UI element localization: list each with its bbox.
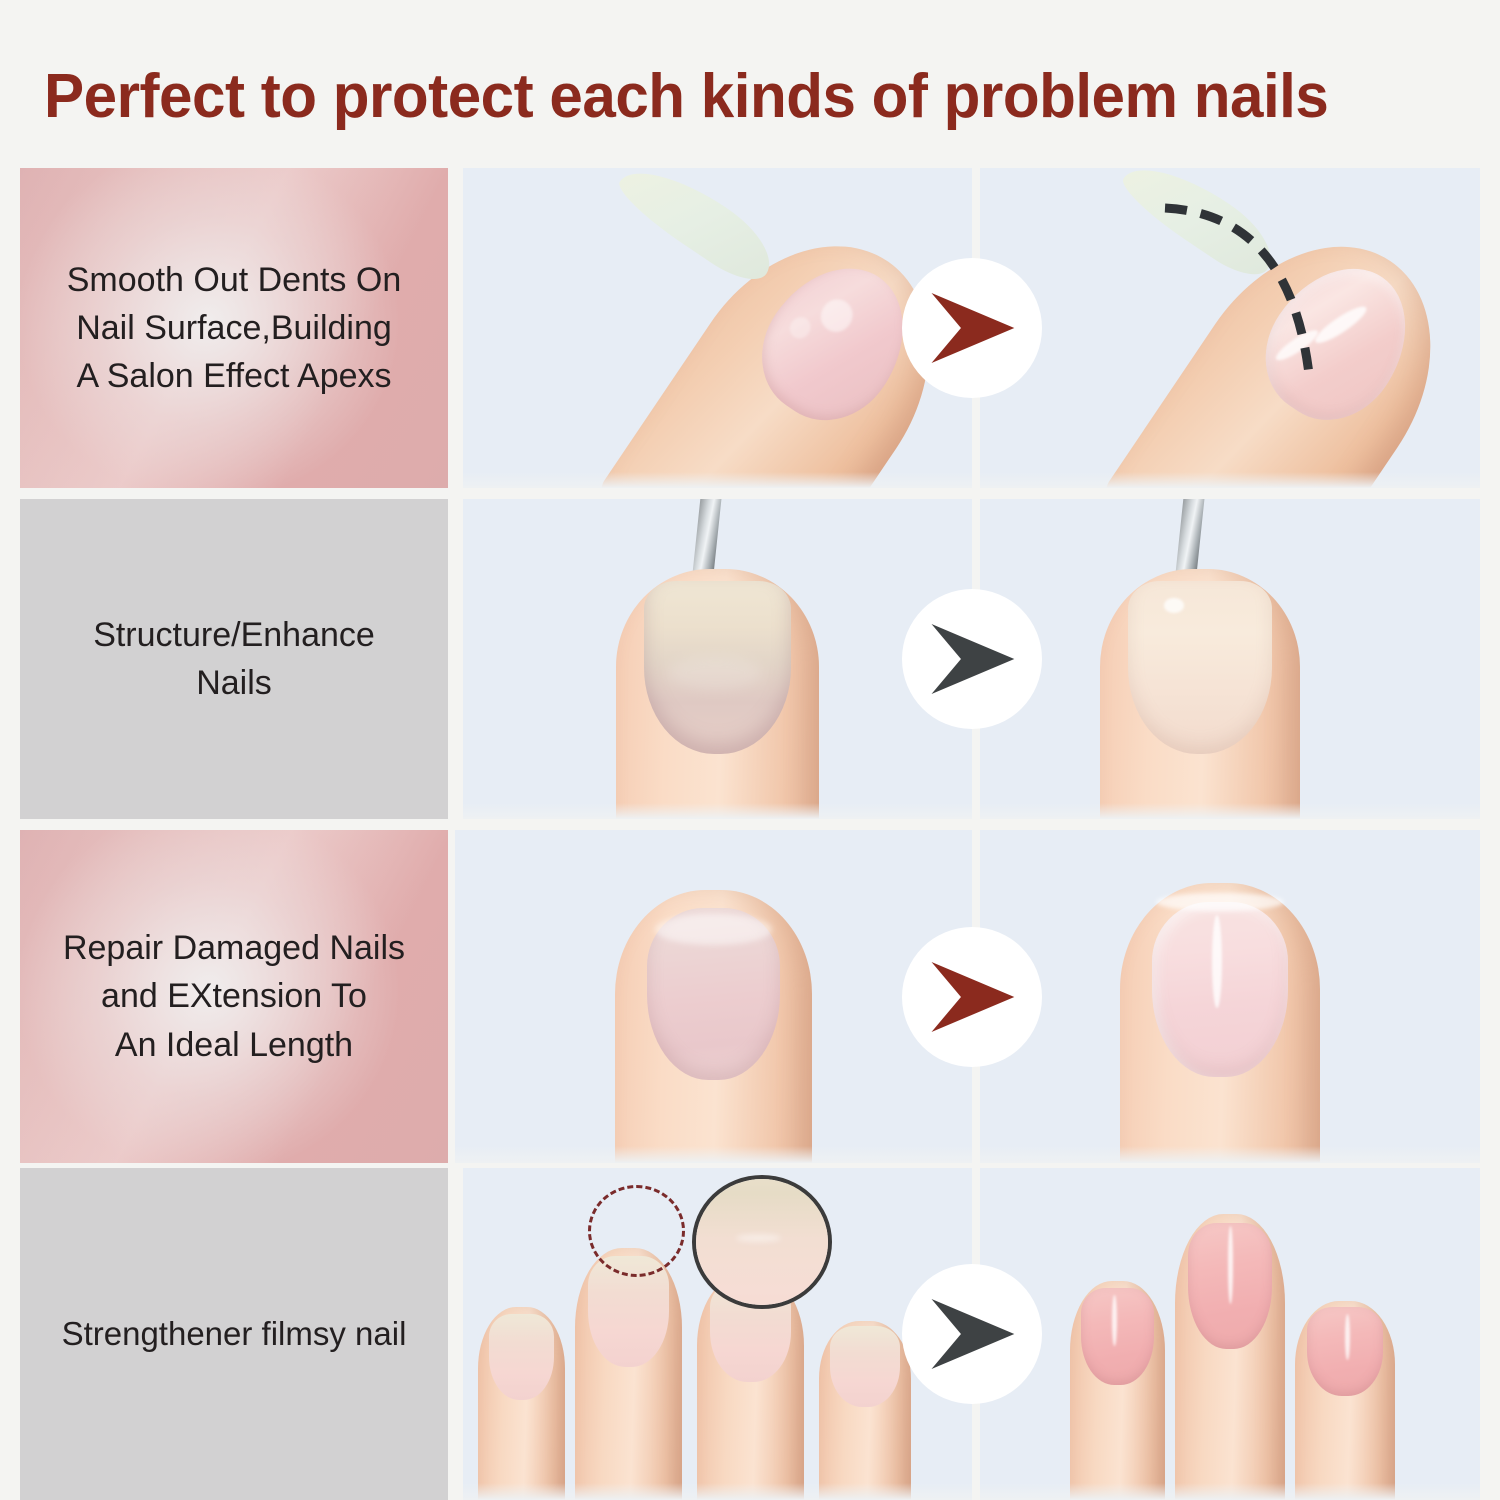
feature-row-2: Structure/Enhance Nails	[0, 499, 1500, 819]
nail-illustration-after	[980, 499, 1480, 819]
hand-illustration-before	[463, 1168, 972, 1500]
row-4-arrow-badge	[902, 1264, 1042, 1404]
nail-plate	[489, 1314, 555, 1400]
row-1-after-photo	[980, 168, 1480, 488]
finger-shape	[1295, 1301, 1395, 1500]
fingertip-shape	[1100, 569, 1300, 819]
nail-illustration-after	[980, 168, 1480, 488]
feature-row-1: Smooth Out Dents On Nail Surface,Buildin…	[0, 168, 1500, 488]
finger-shape	[478, 1307, 565, 1500]
apex-dashed-arc-icon	[980, 168, 1480, 488]
finger-shape	[819, 1321, 911, 1500]
feature-grid: Smooth Out Dents On Nail Surface,Buildin…	[0, 168, 1500, 1500]
fingertip-shape	[1120, 883, 1320, 1163]
row-3-label-cell: Repair Damaged Nails and EXtension To An…	[20, 830, 448, 1163]
row-2-after-photo	[980, 499, 1480, 819]
row-4-label: Strengthener filmsy nail	[62, 1311, 407, 1358]
infographic-page: Perfect to protect each kinds of problem…	[0, 0, 1500, 1500]
row-4-label-cell: Strengthener filmsy nail	[20, 1168, 448, 1500]
nail-illustration-before	[455, 830, 972, 1163]
magnified-nail-tip	[692, 1175, 832, 1309]
chevron-right-icon	[926, 287, 1018, 369]
damage-highlight-dashed-circle-icon	[588, 1185, 686, 1277]
row-2-label: Structure/Enhance Nails	[93, 611, 375, 708]
nail-illustration-before	[463, 499, 972, 819]
row-3-after-photo	[980, 830, 1480, 1163]
finger-shape	[1175, 1214, 1285, 1500]
free-edge-tip	[610, 168, 784, 292]
finger-shape	[575, 1248, 682, 1500]
chevron-right-icon	[926, 618, 1018, 700]
row-1-label: Smooth Out Dents On Nail Surface,Buildin…	[67, 256, 402, 401]
finger-shape	[1070, 1281, 1165, 1500]
row-1-arrow-badge	[902, 258, 1042, 398]
chevron-right-icon	[926, 956, 1018, 1038]
nail-plate	[830, 1326, 900, 1407]
row-2-arrow-badge	[902, 589, 1042, 729]
nail-illustration-after	[980, 830, 1480, 1163]
enhanced-nail-plate	[1128, 581, 1272, 754]
row-2-before-photo	[463, 499, 972, 819]
fingertip-shape	[616, 569, 820, 819]
row-1-before-photo	[463, 168, 972, 488]
nail-illustration-before	[463, 168, 972, 488]
feature-row-3: Repair Damaged Nails and EXtension To An…	[0, 830, 1500, 1163]
hand-illustration-after	[980, 1168, 1480, 1500]
feature-row-4: Strengthener filmsy nail	[0, 1168, 1500, 1500]
row-1-label-cell: Smooth Out Dents On Nail Surface,Buildin…	[20, 168, 448, 488]
page-title: Perfect to protect each kinds of problem…	[44, 52, 1421, 142]
row-3-label: Repair Damaged Nails and EXtension To An…	[63, 924, 405, 1069]
row-4-after-photo	[980, 1168, 1480, 1500]
row-3-before-photo	[455, 830, 972, 1163]
row-3-arrow-badge	[902, 927, 1042, 1067]
row-2-label-cell: Structure/Enhance Nails	[20, 499, 448, 819]
nail-plate	[1081, 1288, 1153, 1386]
zoom-callout-magnifier	[692, 1175, 832, 1309]
fingertip-shape	[615, 890, 811, 1163]
chevron-right-icon	[926, 1293, 1018, 1375]
row-4-before-photo	[463, 1168, 972, 1500]
